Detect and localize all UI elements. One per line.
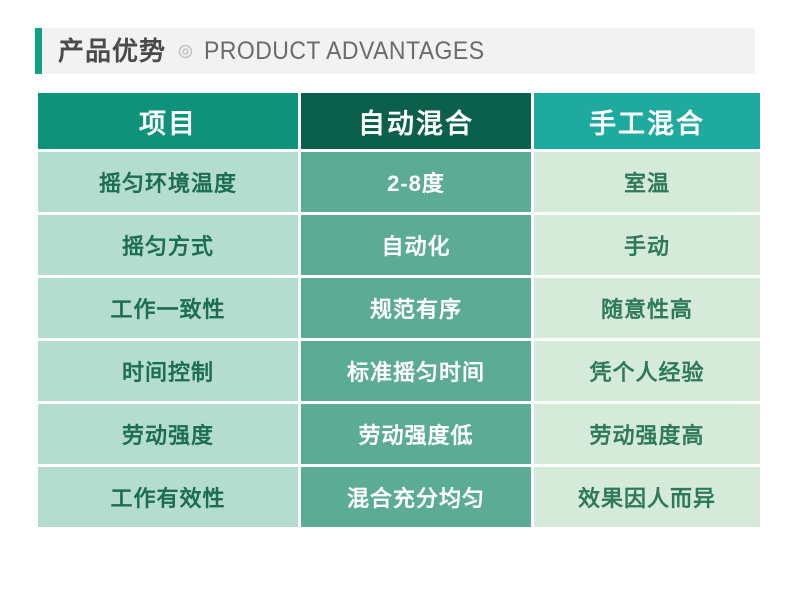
table-row: 劳动强度 劳动强度低 劳动强度高 bbox=[38, 404, 760, 464]
table-row: 摇匀方式 自动化 手动 bbox=[38, 215, 760, 275]
section-header: 产品优势 PRODUCT ADVANTAGES bbox=[35, 28, 755, 74]
table-row: 时间控制 标准摇匀时间 凭个人经验 bbox=[38, 341, 760, 401]
row-manual-value: 手动 bbox=[534, 215, 760, 275]
row-item-label: 劳动强度 bbox=[38, 404, 298, 464]
row-auto-value: 混合充分均匀 bbox=[301, 467, 531, 527]
page-subtitle: PRODUCT ADVANTAGES bbox=[204, 39, 484, 64]
table-header-row: 项目 自动混合 手工混合 bbox=[38, 93, 760, 149]
row-item-label: 工作有效性 bbox=[38, 467, 298, 527]
row-item-label: 摇匀方式 bbox=[38, 215, 298, 275]
row-auto-value: 自动化 bbox=[301, 215, 531, 275]
row-manual-value: 室温 bbox=[534, 152, 760, 212]
row-manual-value: 随意性高 bbox=[534, 278, 760, 338]
row-item-label: 摇匀环境温度 bbox=[38, 152, 298, 212]
table-body: 摇匀环境温度 2-8度 室温 摇匀方式 自动化 手动 工作一致性 规范有序 随意… bbox=[38, 152, 760, 527]
row-manual-value: 效果因人而异 bbox=[534, 467, 760, 527]
row-auto-value: 规范有序 bbox=[301, 278, 531, 338]
product-advantages-page: 产品优势 PRODUCT ADVANTAGES 项目 自动混合 手工混合 摇匀环… bbox=[0, 0, 800, 589]
page-title: 产品优势 bbox=[58, 38, 166, 64]
row-manual-value: 劳动强度高 bbox=[534, 404, 760, 464]
table-row: 工作一致性 规范有序 随意性高 bbox=[38, 278, 760, 338]
row-auto-value: 劳动强度低 bbox=[301, 404, 531, 464]
row-auto-value: 2-8度 bbox=[301, 152, 531, 212]
column-header-auto-mix: 自动混合 bbox=[301, 93, 531, 149]
table-row: 摇匀环境温度 2-8度 室温 bbox=[38, 152, 760, 212]
double-circle-icon bbox=[178, 44, 193, 59]
column-header-manual-mix: 手工混合 bbox=[534, 93, 760, 149]
table-row: 工作有效性 混合充分均匀 效果因人而异 bbox=[38, 467, 760, 527]
comparison-table-wrapper: 项目 自动混合 手工混合 摇匀环境温度 2-8度 室温 摇匀方式 自动化 手动 … bbox=[35, 90, 754, 530]
accent-bar bbox=[35, 28, 42, 74]
column-header-item: 项目 bbox=[38, 93, 298, 149]
row-manual-value: 凭个人经验 bbox=[534, 341, 760, 401]
table-header: 项目 自动混合 手工混合 bbox=[38, 93, 760, 149]
row-item-label: 工作一致性 bbox=[38, 278, 298, 338]
row-item-label: 时间控制 bbox=[38, 341, 298, 401]
row-auto-value: 标准摇匀时间 bbox=[301, 341, 531, 401]
comparison-table: 项目 自动混合 手工混合 摇匀环境温度 2-8度 室温 摇匀方式 自动化 手动 … bbox=[35, 90, 763, 530]
